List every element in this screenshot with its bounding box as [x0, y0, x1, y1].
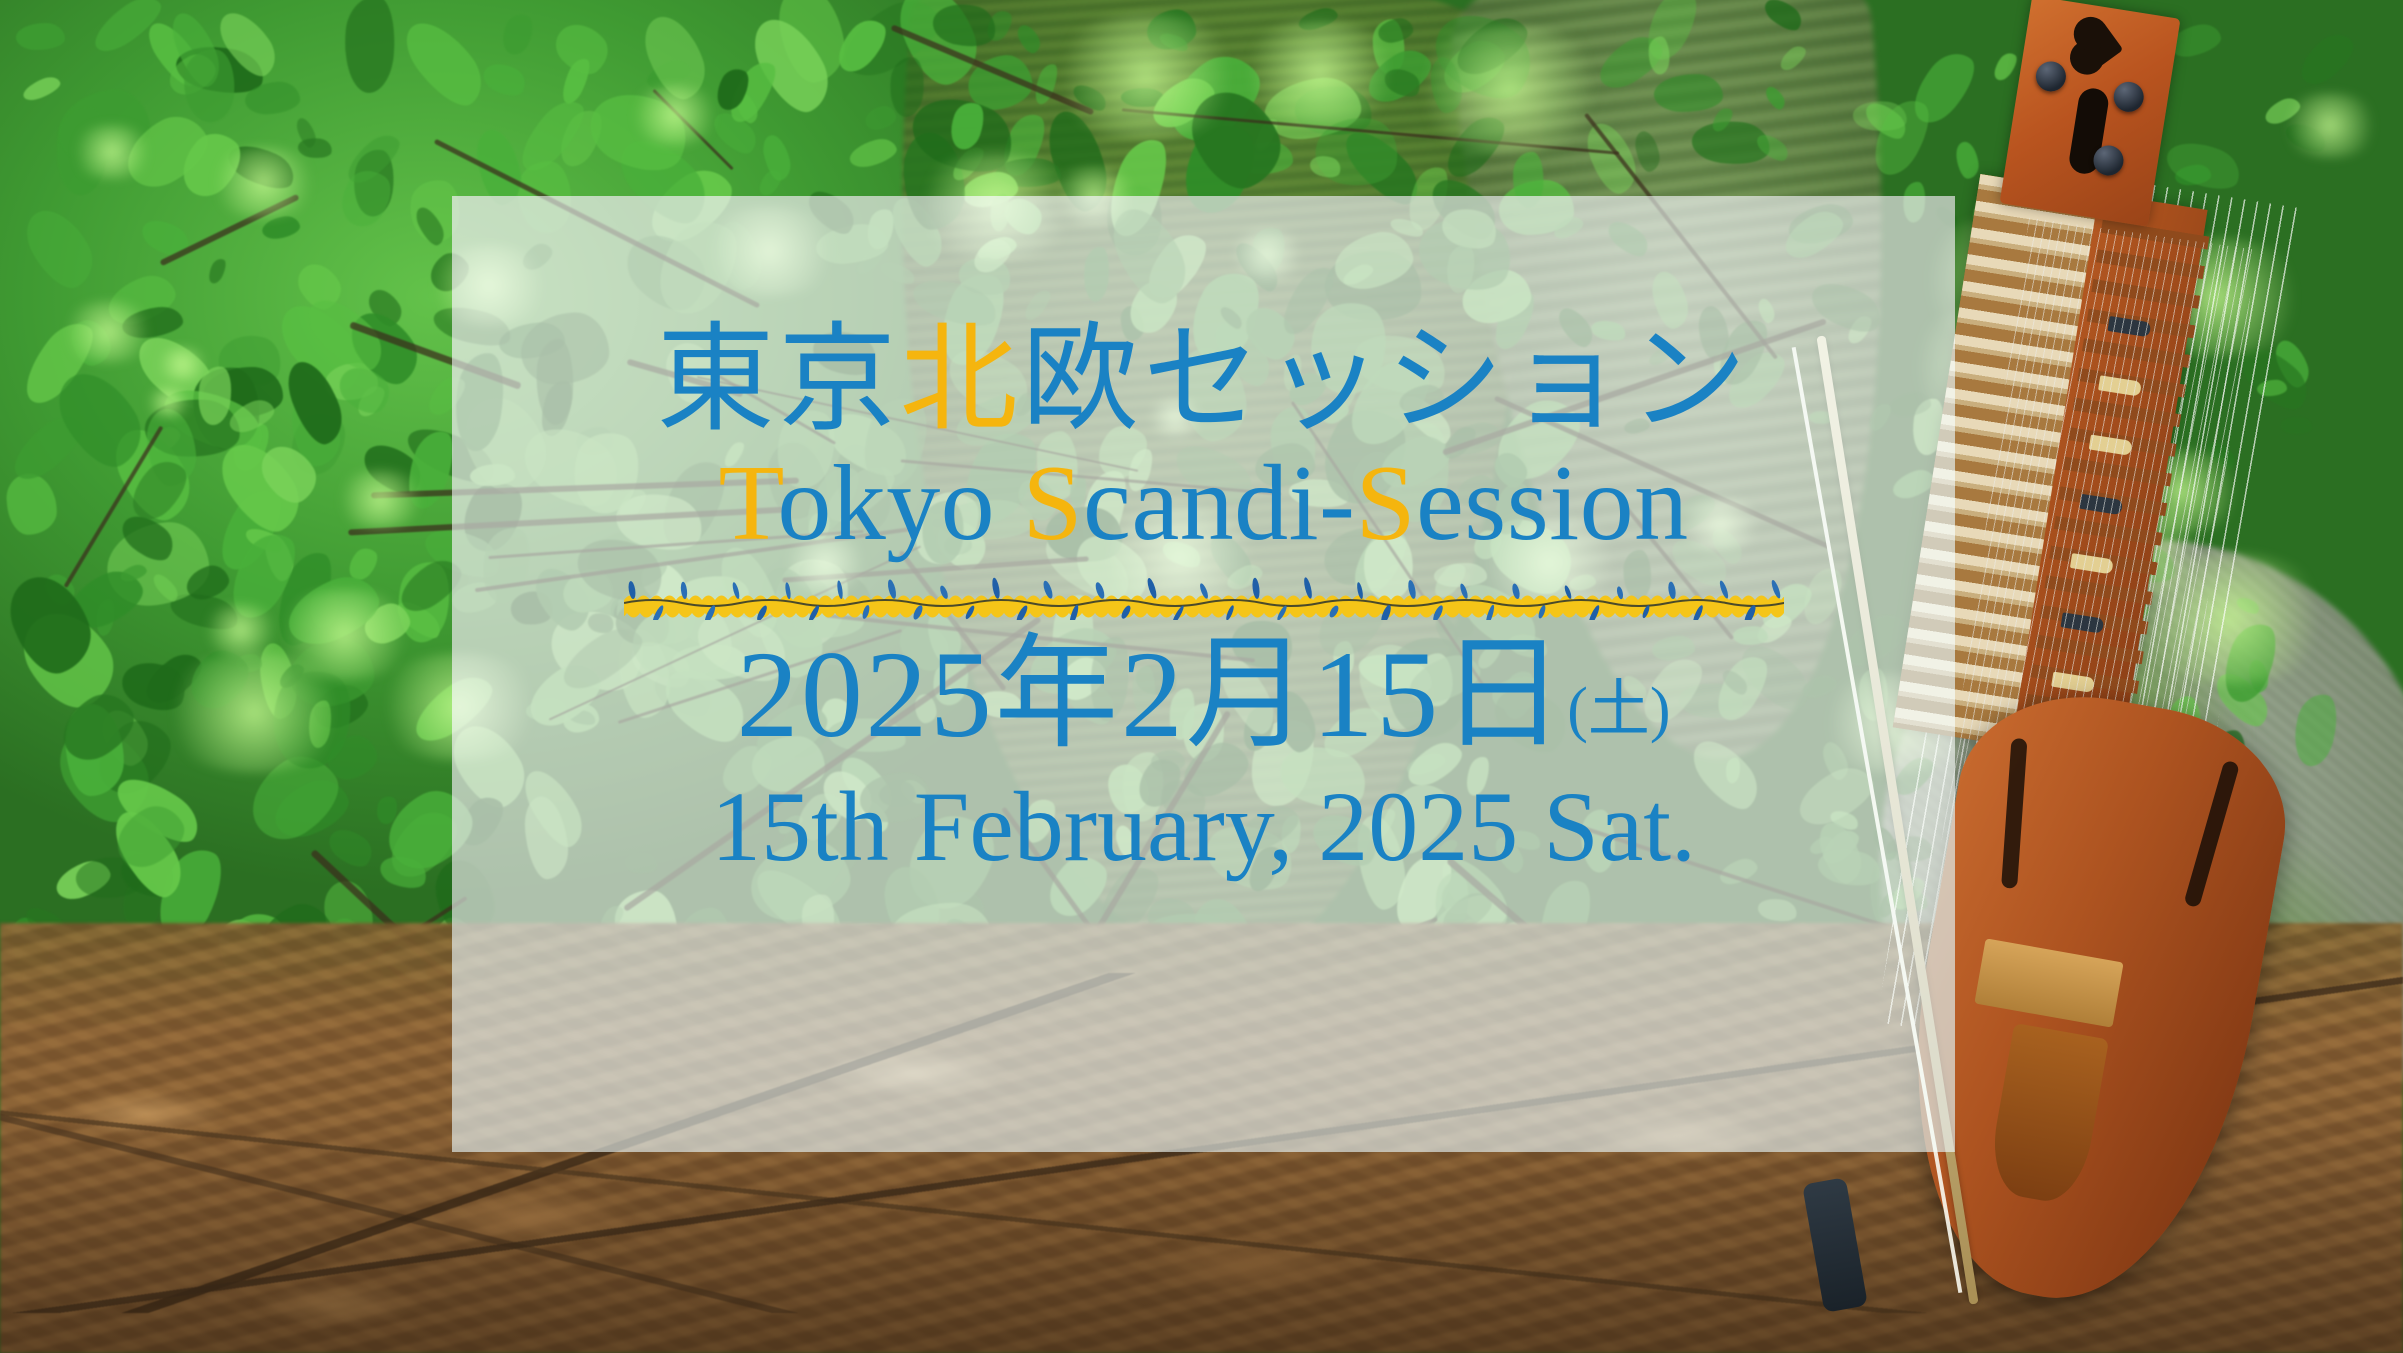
translucent-text-panel — [452, 196, 1955, 1152]
poster-canvas: 東京北欧セッション Tokyo Scandi-Session 2025年2月15… — [0, 0, 2403, 1353]
sun-highlight — [142, 387, 194, 418]
sun-highlight — [1402, 25, 1616, 153]
sun-highlight — [204, 147, 323, 218]
sun-highlight — [1231, 20, 1407, 126]
sun-highlight — [331, 470, 430, 529]
sun-highlight — [625, 85, 724, 144]
sun-highlight — [57, 301, 159, 362]
tuning-peg — [2112, 80, 2146, 114]
f-hole — [2183, 760, 2240, 909]
sun-highlight — [67, 125, 156, 178]
bow-frog — [1802, 1177, 1868, 1313]
sun-highlight — [1042, 14, 1250, 139]
tuning-peg — [2034, 59, 2068, 93]
f-hole — [2001, 738, 2027, 889]
heart-soundhole-icon — [2077, 24, 2123, 70]
sun-highlight — [153, 347, 212, 382]
sun-highlight — [269, 589, 420, 680]
